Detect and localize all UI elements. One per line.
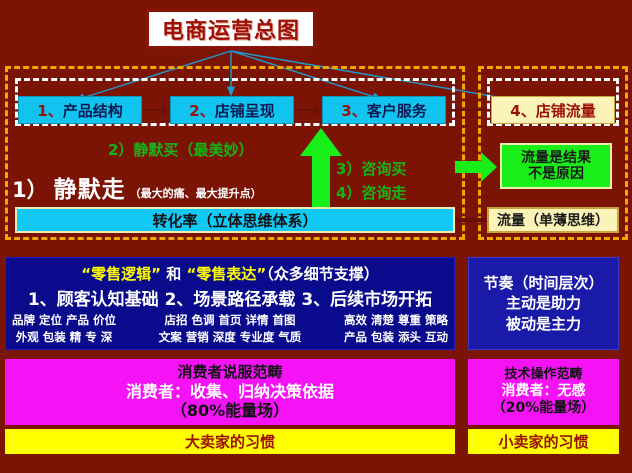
label-consult-buy: 3）咨询买 (336, 158, 406, 179)
retail-col-1-row-2: 外观 包装 精 专 深 (12, 329, 116, 346)
technical-line-3: （20%能量场） (492, 400, 596, 417)
bar-conversion-rate: 转化率（立体思维体系） (15, 207, 455, 233)
persuasion-line-2: 消费者：收集、归纳决策依据 (126, 382, 334, 402)
node-label-3: 客户服务 (367, 100, 427, 121)
link-arrowhead-1-2 (162, 105, 169, 115)
panel-rhythm: 节奏（时间层次） 主动是助力 被动是主力 (468, 257, 619, 350)
green-right-arrow-icon (455, 152, 497, 182)
panel-technical-operation: 技术操作范畴 消费者：无感 （20%能量场） (468, 359, 619, 425)
panel-consumer-persuasion: 消费者说服范畴 消费者：收集、归纳决策依据 （80%能量场） (5, 359, 455, 425)
node-number-3: 3、 (341, 100, 366, 121)
retail-heading-tail: （众多细节支撑） (266, 265, 379, 283)
link-line-conversion-traffic (455, 218, 489, 222)
slide-canvas: 电商运营总图 1、产品结构 2、店铺呈现 3、客户服务 4、店铺流量 2）静默买… (0, 0, 632, 473)
rhythm-line-3: 被动是主力 (506, 314, 581, 334)
persuasion-line-1: 消费者说服范畴 (177, 363, 282, 381)
link-line-3-4 (446, 109, 491, 111)
node-store-presentation[interactable]: 2、店铺呈现 (170, 96, 294, 124)
retail-heading-q1: “零售逻辑” (81, 265, 161, 283)
silent-leave-main: 静默走 (54, 170, 126, 204)
retail-heading: “零售逻辑” 和 “零售表达”（众多细节支撑） (6, 263, 454, 284)
node-number-4: 4、 (510, 100, 535, 121)
bar-small-seller-habit: 小卖家的习惯 (468, 429, 619, 454)
callout-line-1: 流量是结果 (521, 150, 591, 166)
bar-big-seller-habit: 大卖家的习惯 (5, 429, 455, 454)
node-customer-service[interactable]: 3、客户服务 (322, 96, 446, 124)
node-label-1: 产品结构 (63, 100, 123, 121)
retail-col-3-row-2: 产品 包装 添头 互动 (344, 329, 448, 346)
page-title: 电商运营总图 (146, 9, 316, 49)
retail-heading-and: 和 (161, 265, 186, 283)
retail-col-3-row-1: 高效 清楚 尊重 策略 (344, 312, 448, 329)
link-arrowhead-2-3 (314, 105, 321, 115)
rhythm-line-2: 主动是助力 (506, 293, 581, 313)
retail-col-2: 店招 色调 首页 详情 首图 文案 营销 深度 专业度 气质 (159, 312, 302, 345)
node-label-4: 店铺流量 (536, 100, 596, 121)
callout-traffic-is-result: 流量是结果 不是原因 (500, 143, 612, 189)
retail-col-1: 品牌 定位 产品 价位 外观 包装 精 专 深 (12, 312, 116, 345)
retail-col-2-row-2: 文案 营销 深度 专业度 气质 (159, 329, 302, 346)
label-silent-buy: 2）静默买（最美妙） (108, 139, 253, 160)
persuasion-line-3: （80%能量场） (171, 401, 289, 421)
retail-col-2-row-1: 店招 色调 首页 详情 首图 (159, 312, 302, 329)
technical-line-1: 技术操作范畴 (504, 367, 582, 383)
page-title-text: 电商运营总图 (162, 13, 300, 45)
node-label-2: 店铺呈现 (215, 100, 275, 121)
silent-leave-number: 1） (12, 174, 48, 204)
retail-col-1-row-1: 品牌 定位 产品 价位 (12, 312, 116, 329)
silent-leave-note: （最大的痛、最大提升点） (130, 185, 262, 201)
retail-subheads: 1、顾客认知基础 2、场景路径承载 3、后续市场开拓 (6, 285, 454, 310)
callout-line-2: 不是原因 (528, 166, 584, 182)
rhythm-line-1: 节奏（时间层次） (483, 273, 603, 293)
retail-heading-q2: “零售表达” (186, 265, 266, 283)
green-up-arrow-icon (300, 128, 342, 216)
panel-retail-logic: “零售逻辑” 和 “零售表达”（众多细节支撑） 1、顾客认知基础 2、场景路径承… (5, 257, 455, 350)
retail-detail-columns: 品牌 定位 产品 价位 外观 包装 精 专 深 店招 色调 首页 详情 首图 文… (6, 310, 454, 345)
label-silent-leave: 1） 静默走 （最大的痛、最大提升点） (12, 170, 262, 204)
bar-traffic: 流量（单薄思维） (487, 207, 619, 233)
node-number-2: 2、 (189, 100, 214, 121)
node-store-traffic[interactable]: 4、店铺流量 (491, 96, 615, 124)
node-product-structure[interactable]: 1、产品结构 (18, 96, 142, 124)
label-consult-leave: 4）咨询走 (336, 182, 406, 203)
node-number-1: 1、 (37, 100, 62, 121)
technical-line-2: 消费者：无感 (502, 383, 586, 400)
retail-col-3: 高效 清楚 尊重 策略 产品 包装 添头 互动 (344, 312, 448, 345)
